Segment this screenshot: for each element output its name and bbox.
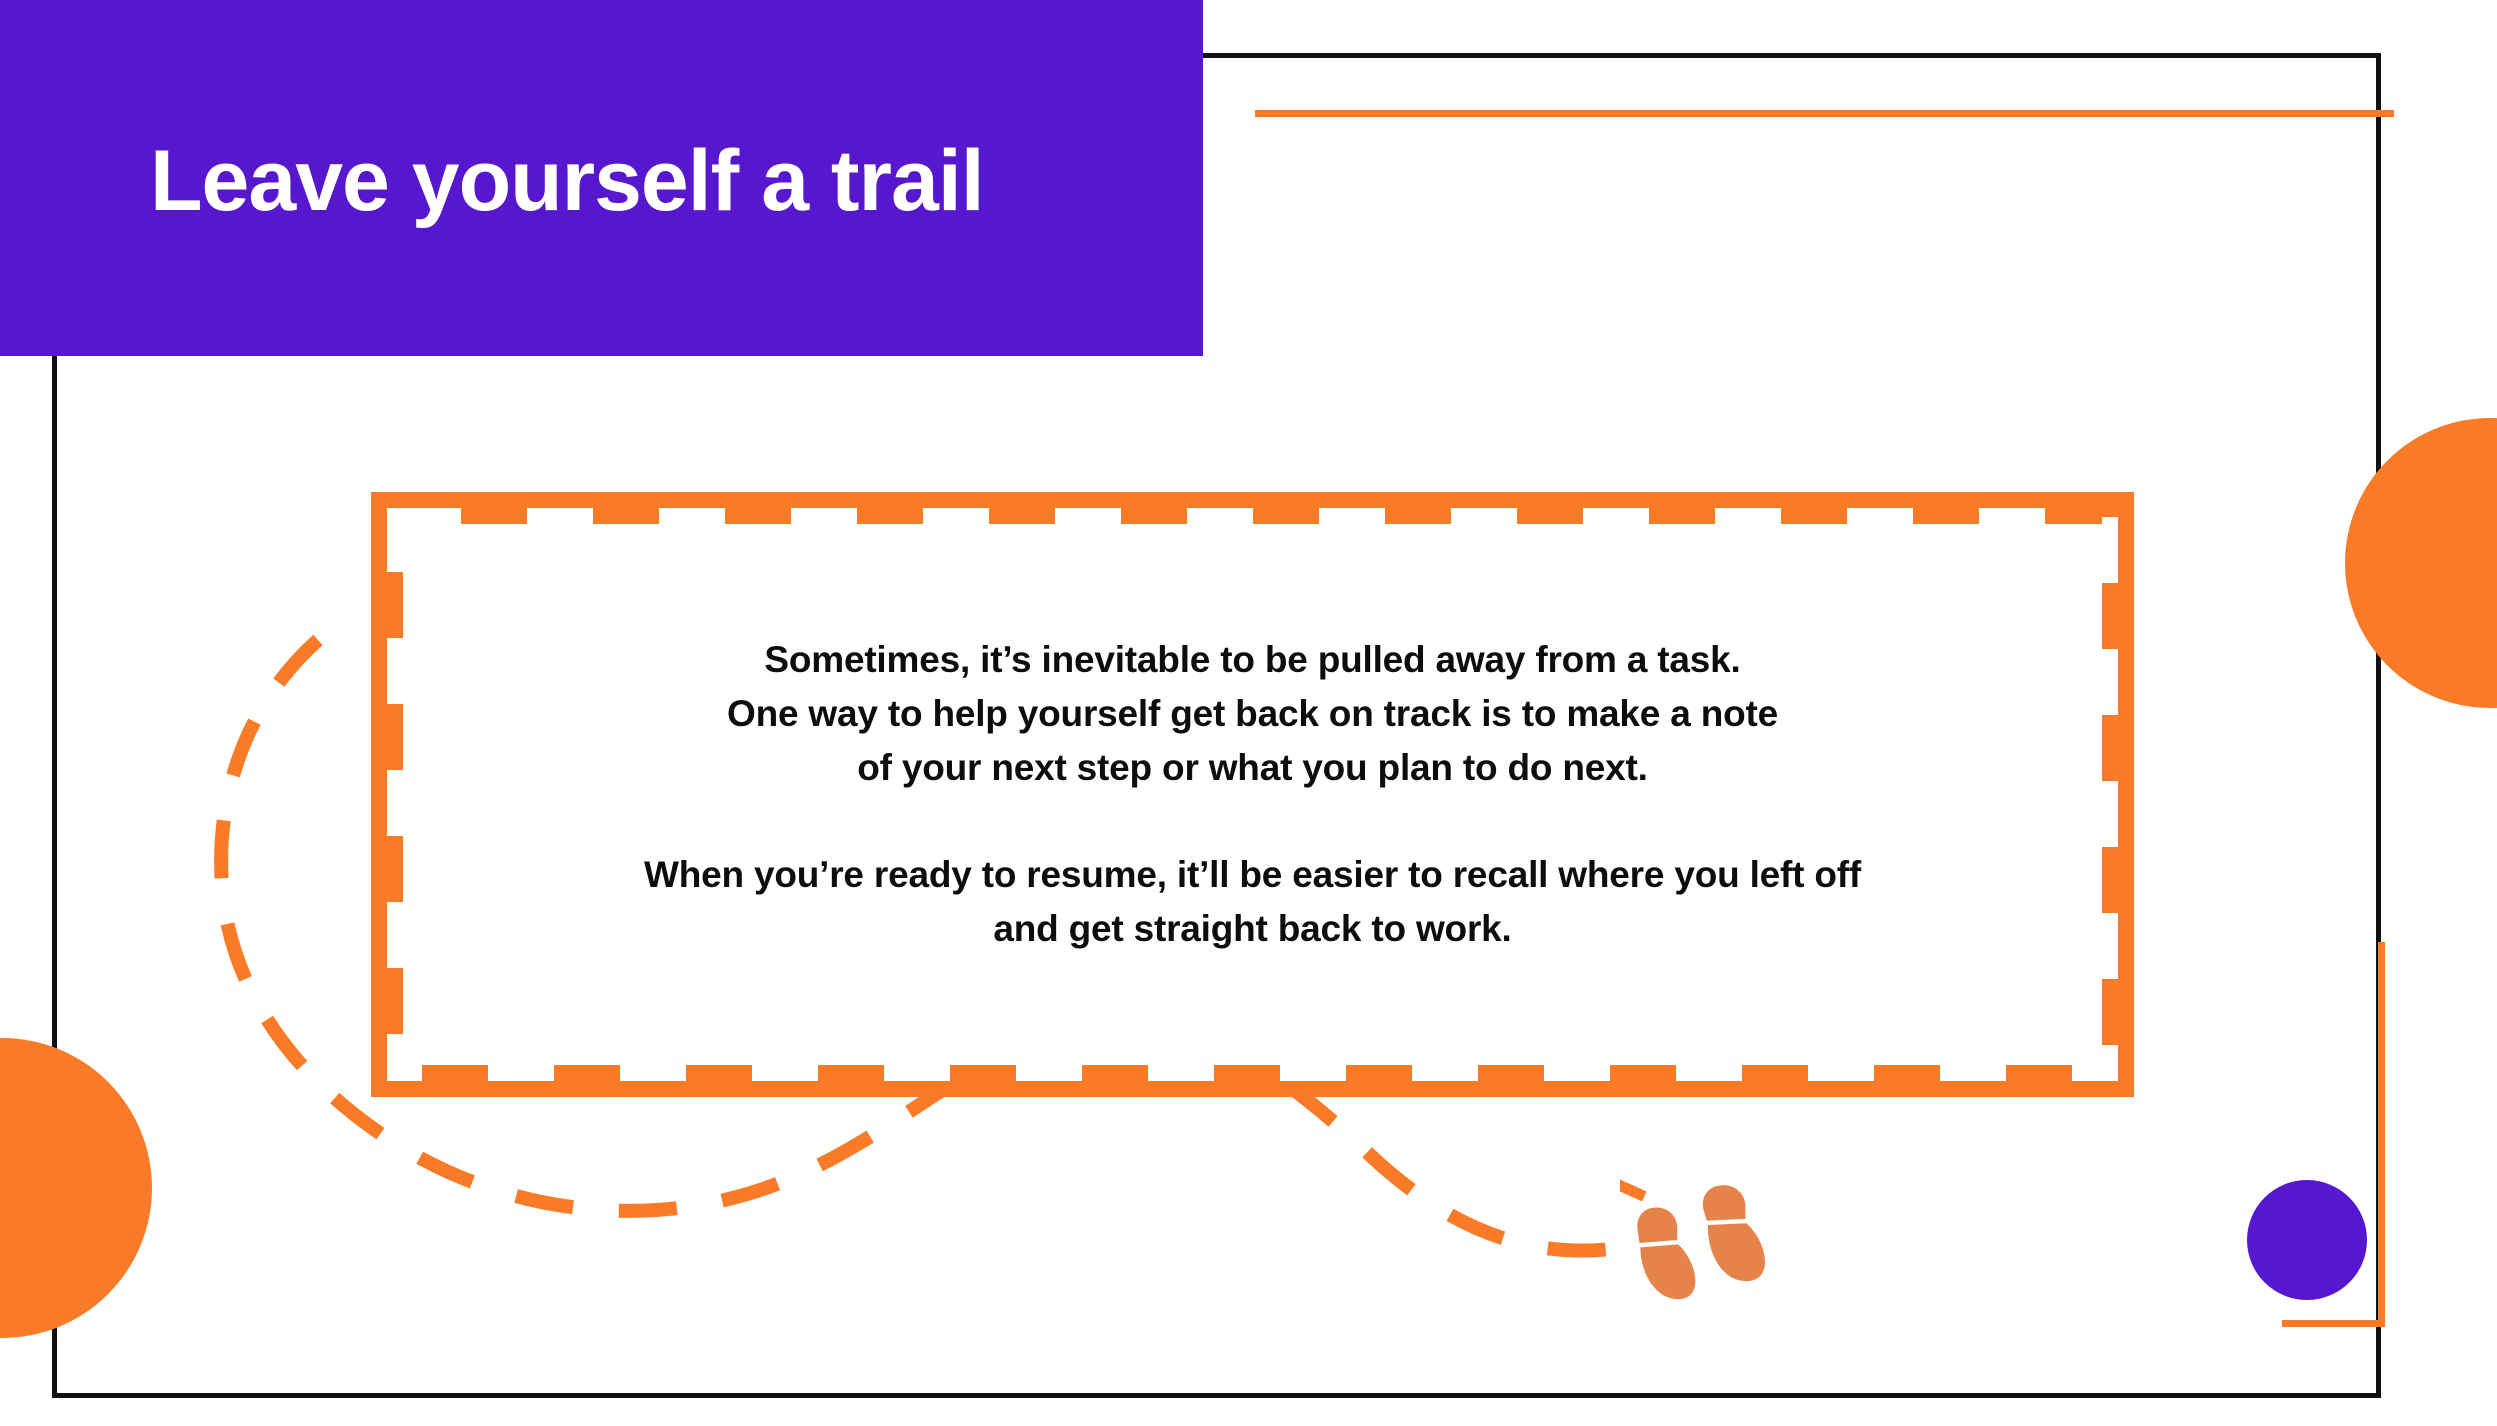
corner-bracket-icon <box>2282 942 2385 1327</box>
title-block: Leave yourself a trail <box>0 0 1203 356</box>
body-paragraph-2: When you’re ready to resume, it’ll be ea… <box>644 848 1861 957</box>
body-paragraph-1: Sometimes, it’s inevitable to be pulled … <box>727 633 1778 796</box>
slide-canvas: Sometimes, it’s inevitable to be pulled … <box>0 0 2497 1426</box>
content-callout-box: Sometimes, it’s inevitable to be pulled … <box>371 492 2134 1097</box>
footprints-icon <box>1620 1176 1800 1306</box>
accent-rule-top <box>1255 110 2394 117</box>
body-copy: Sometimes, it’s inevitable to be pulled … <box>403 524 2102 1065</box>
page-title: Leave yourself a trail <box>150 132 984 231</box>
